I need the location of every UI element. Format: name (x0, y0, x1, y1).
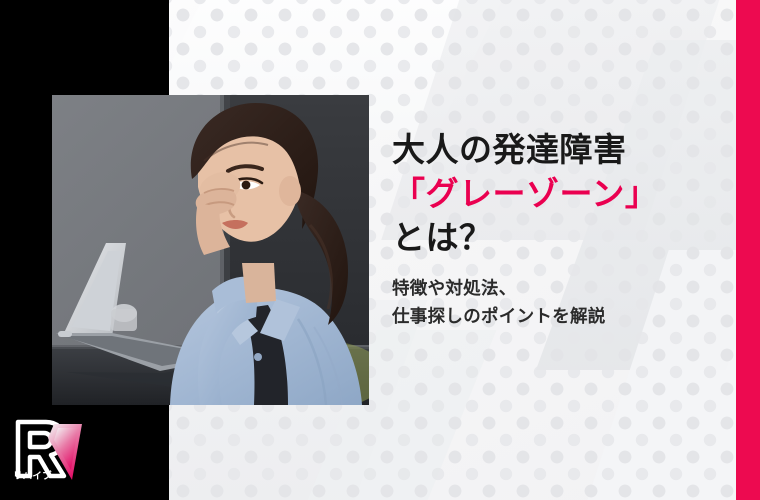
hero-photo-illustration (52, 95, 369, 405)
hero-photo (52, 95, 369, 405)
headline-line-3: とは？ (392, 216, 722, 260)
accent-bar-right (736, 0, 760, 500)
headline-line-2-accent: 「グレーゾーン」 (392, 172, 722, 216)
banner-root: 大人の発達障害 「グレーゾーン」 とは？ 特徴や対処法、 仕事探しのポイントを解… (0, 0, 760, 500)
subhead-line-2: 仕事探しのポイントを解説 (392, 302, 722, 330)
headline-line-1: 大人の発達障害 (392, 128, 722, 172)
brand-logo-kana: リバイブ (13, 468, 52, 482)
brand-logo[interactable]: リバイブ (10, 418, 106, 484)
headline-block: 大人の発達障害 「グレーゾーン」 とは？ 特徴や対処法、 仕事探しのポイントを解… (392, 128, 722, 330)
subhead-line-1: 特徴や対処法、 (392, 274, 722, 302)
